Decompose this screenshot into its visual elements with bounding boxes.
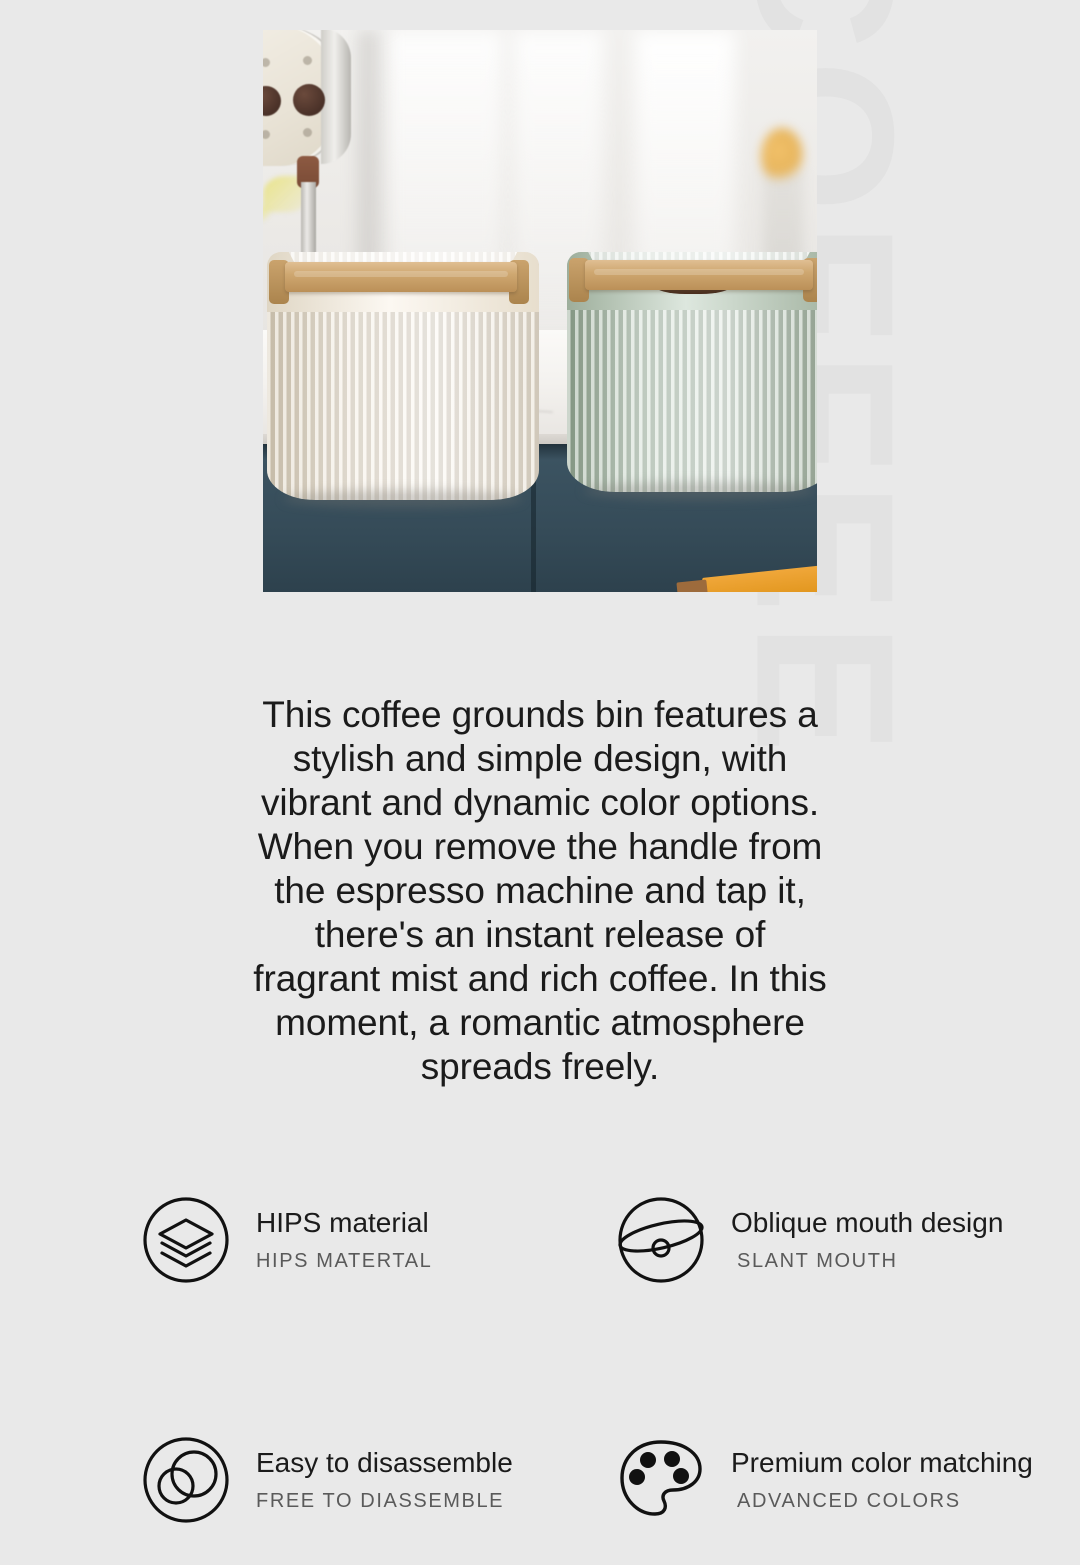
grouphead-button [293,84,325,116]
product-detail-page: COFFEE [0,0,1080,1565]
oblique-mouth-icon [617,1196,705,1284]
product-description: This coffee grounds bin features a styli… [252,693,828,1089]
layers-icon [142,1196,230,1284]
feature-title: Premium color matching [731,1446,1033,1480]
kitchen-scene [263,30,817,592]
feature-title: Oblique mouth design [731,1206,1003,1240]
cream-bin-wooden-handle [285,262,517,292]
grouphead-screw [303,56,312,65]
feature-oblique-mouth: Oblique mouth design SLANT MOUTH [475,1196,975,1284]
palette-icon [617,1436,705,1524]
grouphead-screw [303,128,312,137]
feature-row: HIPS material HIPS MATERTAL Oblique mout… [0,1196,1080,1284]
feature-text: HIPS material HIPS MATERTAL [256,1206,432,1274]
background-vase [763,170,803,265]
feature-title: HIPS material [256,1206,432,1240]
grouphead-chrome-rim [321,30,351,164]
feature-grid: HIPS material HIPS MATERTAL Oblique mout… [0,1196,1080,1524]
bin-shadow [283,490,522,508]
feature-subtitle: HIPS MATERTAL [256,1248,432,1274]
hero-product-image [263,30,817,592]
feature-text: Oblique mouth design SLANT MOUTH [731,1206,1003,1274]
green-bin-wooden-handle [585,260,813,290]
bin-shadow [583,482,815,500]
feature-row: Easy to disassemble FREE TO DIASSEMBLE P… [0,1436,1080,1524]
feature-text: Premium color matching ADVANCED COLORS [731,1446,1033,1514]
background-fruit-blur [761,128,803,184]
feature-premium-color: Premium color matching ADVANCED COLORS [475,1436,975,1524]
feature-hips-material: HIPS material HIPS MATERTAL [0,1196,475,1284]
feature-easy-disassemble: Easy to disassemble FREE TO DIASSEMBLE [0,1436,475,1524]
feature-subtitle: SLANT MOUTH [731,1248,1003,1274]
overlapping-circles-icon [142,1436,230,1524]
feature-subtitle: ADVANCED COLORS [731,1488,1033,1514]
